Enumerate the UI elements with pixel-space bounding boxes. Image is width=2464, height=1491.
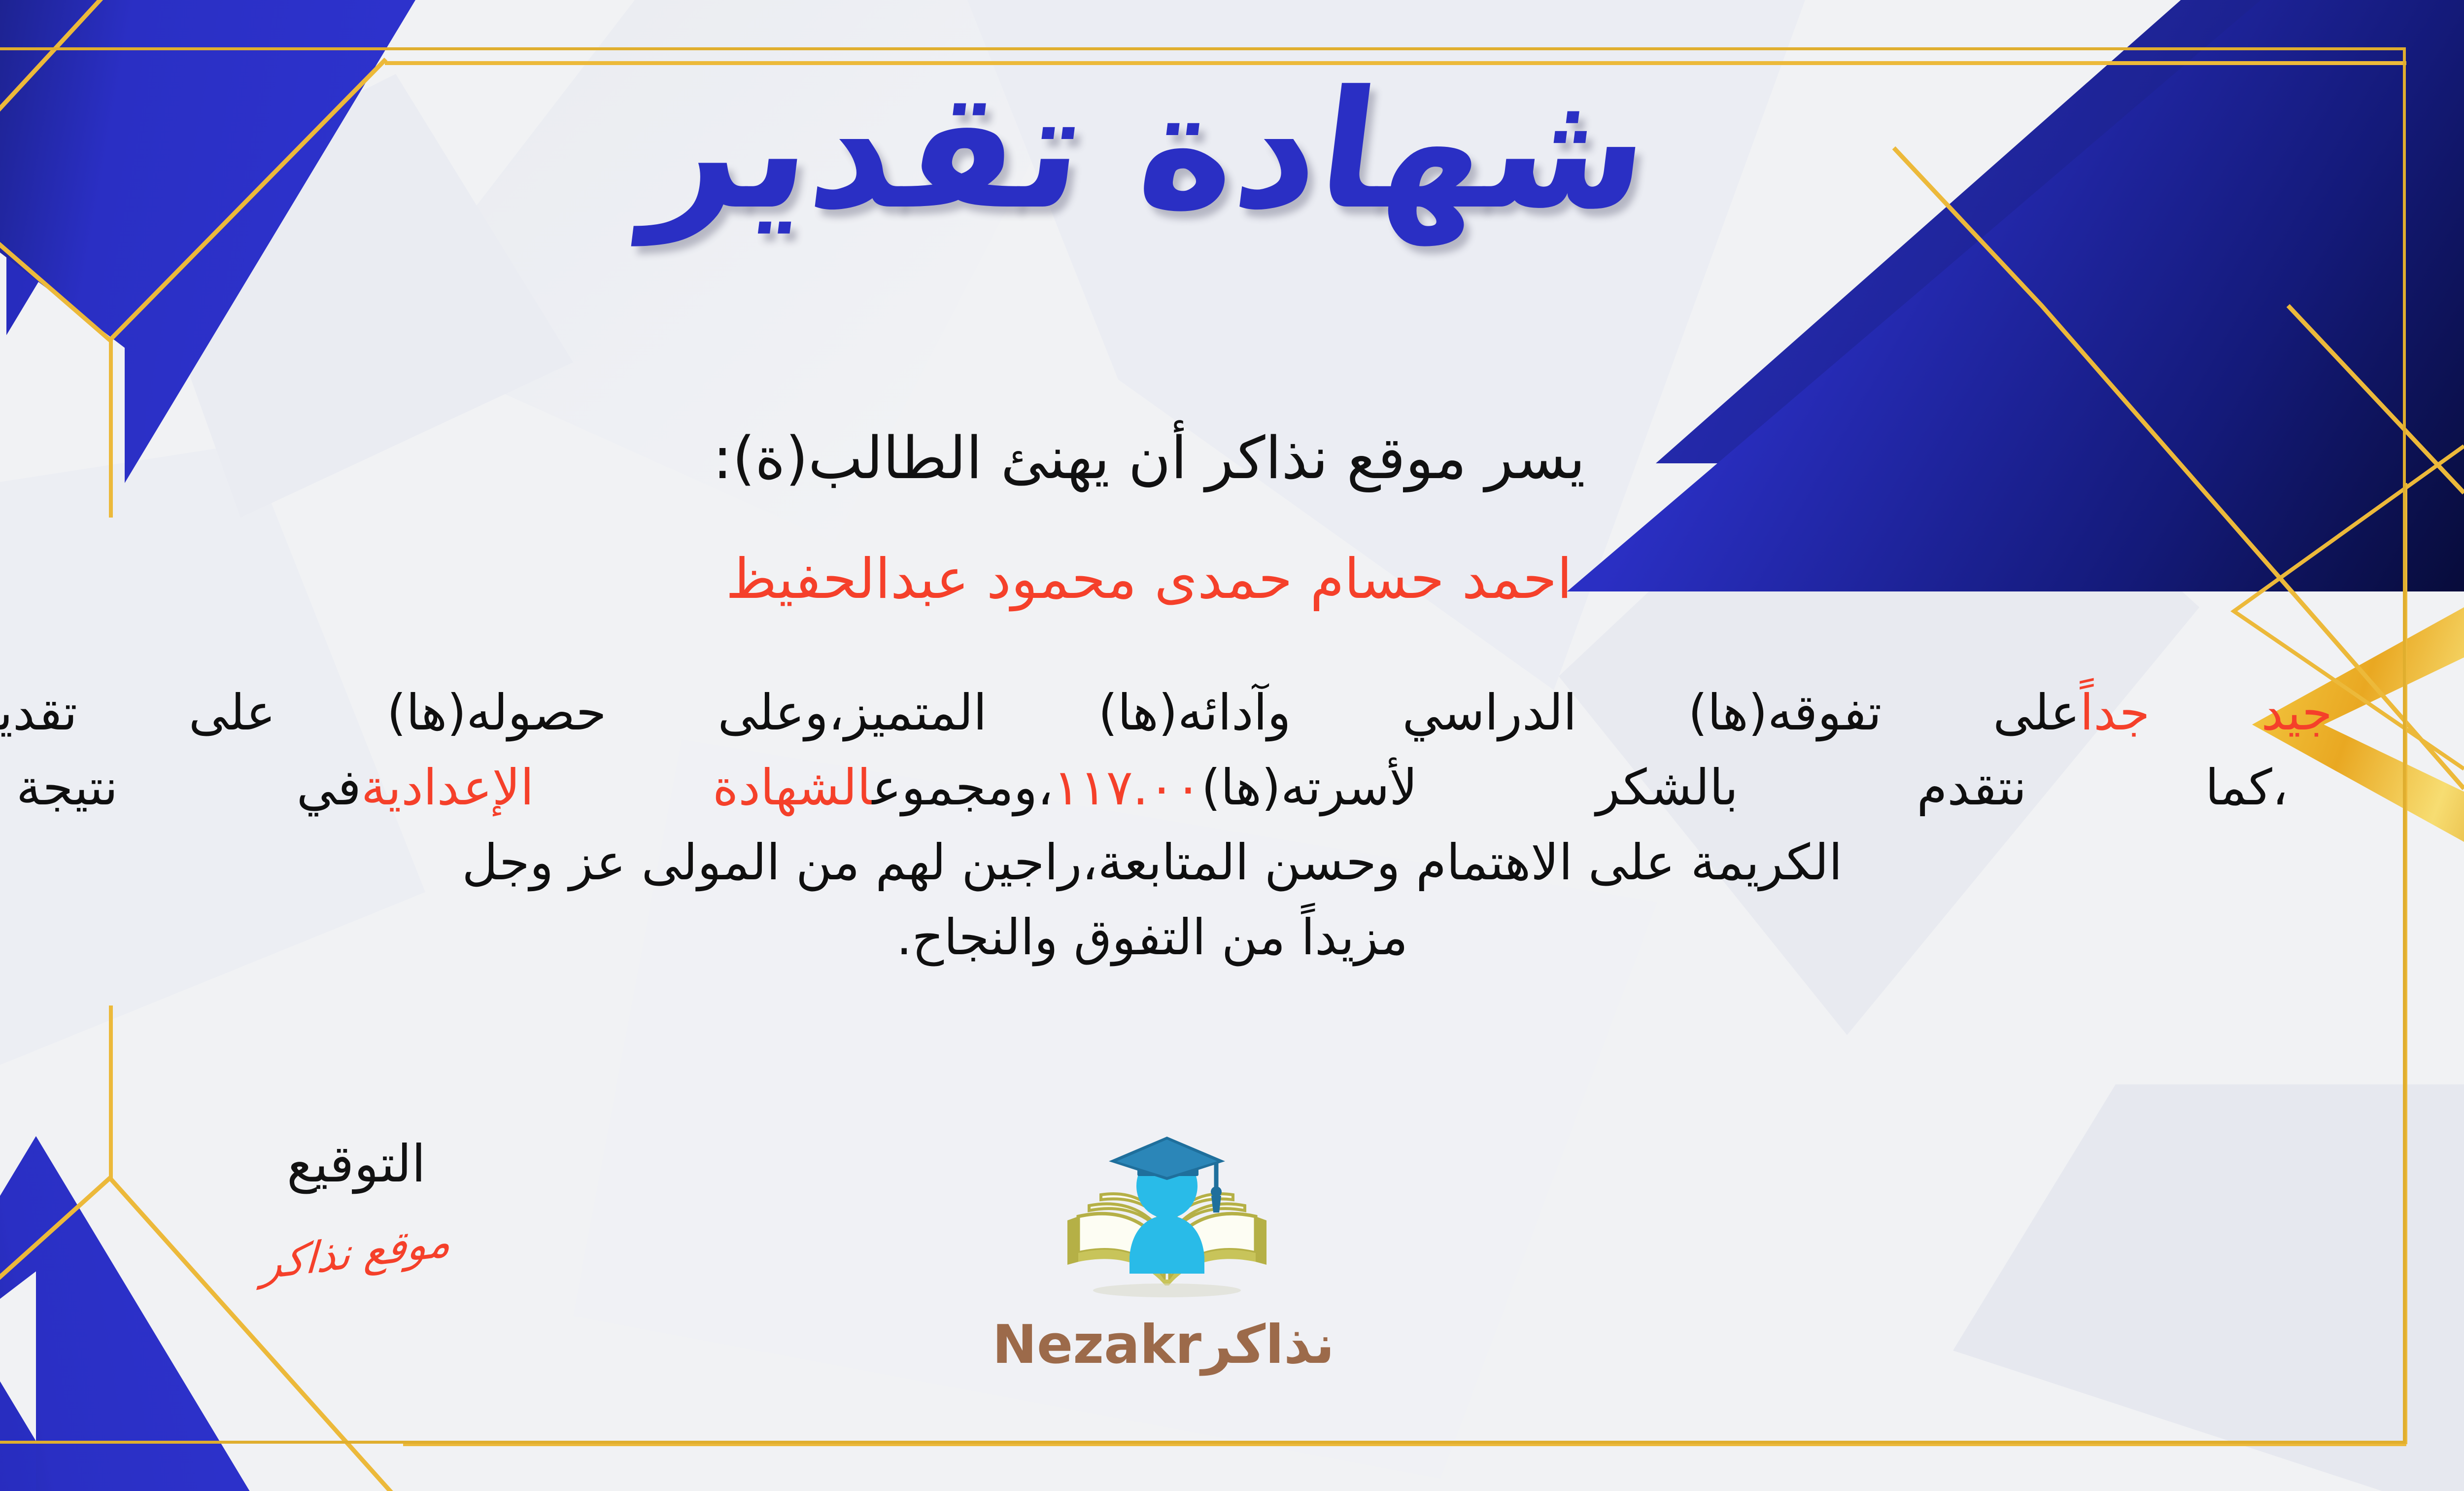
- total-score: ١١٧.٠٠: [1053, 759, 1201, 816]
- logo-latin-text: Nezakr: [992, 1314, 1201, 1376]
- site-logo: نذاكرNezakr: [999, 1134, 1335, 1376]
- page-title: شهادة تقدير: [0, 69, 2464, 232]
- grade-value: جيد جداً: [2080, 684, 2332, 741]
- body-line-2-tail: ،كما نتقدم بالشكر لأسرته(ها): [1201, 759, 2288, 816]
- signature-label: التوقيع: [179, 1134, 534, 1194]
- certificate-page: شهادة تقدير يسر موقع نذاكر أن يهنئ الطال…: [0, 0, 2464, 1491]
- student-name: احمد حسام حمدى محمود عبدالحفيظ: [0, 547, 2464, 611]
- certificate-content: شهادة تقدير يسر موقع نذاكر أن يهنئ الطال…: [0, 0, 2464, 1491]
- logo-arabic-text: نذاكر: [1201, 1314, 1335, 1376]
- certificate-body: جيد جداًعلى تفوقه(ها) الدراسي وآدائه(ها)…: [0, 675, 2347, 975]
- logo-wordmark: نذاكرNezakr: [999, 1314, 1335, 1376]
- body-line-1-text: على تفوقه(ها) الدراسي وآدائه(ها) المتميز…: [0, 684, 2080, 741]
- body-line-3: الكريمة على الاهتمام وحسن المتابعة،راجين…: [0, 825, 2347, 900]
- body-line-4: مزيداً من التفوق والنجاح.: [0, 900, 2347, 975]
- body-line-2: ،كما نتقدم بالشكر لأسرته(ها)١١٧.٠٠،ومجمو…: [0, 750, 2347, 825]
- greeting-line: يسر موقع نذاكر أن يهنئ الطالب(ة):: [0, 424, 2464, 492]
- body-line-2-head: في نتيجة: [16, 759, 361, 816]
- body-line-1: جيد جداًعلى تفوقه(ها) الدراسي وآدائه(ها)…: [0, 675, 2347, 750]
- body-line-2-mid: ،ومجموع: [872, 759, 1054, 816]
- signature-block: التوقيع موقع نذاكر: [179, 1134, 534, 1278]
- signature-mark: موقع نذاكر: [261, 1216, 452, 1289]
- exam-name: الشهادة الإعدادية: [361, 759, 872, 816]
- graduate-book-icon: [1059, 1134, 1275, 1311]
